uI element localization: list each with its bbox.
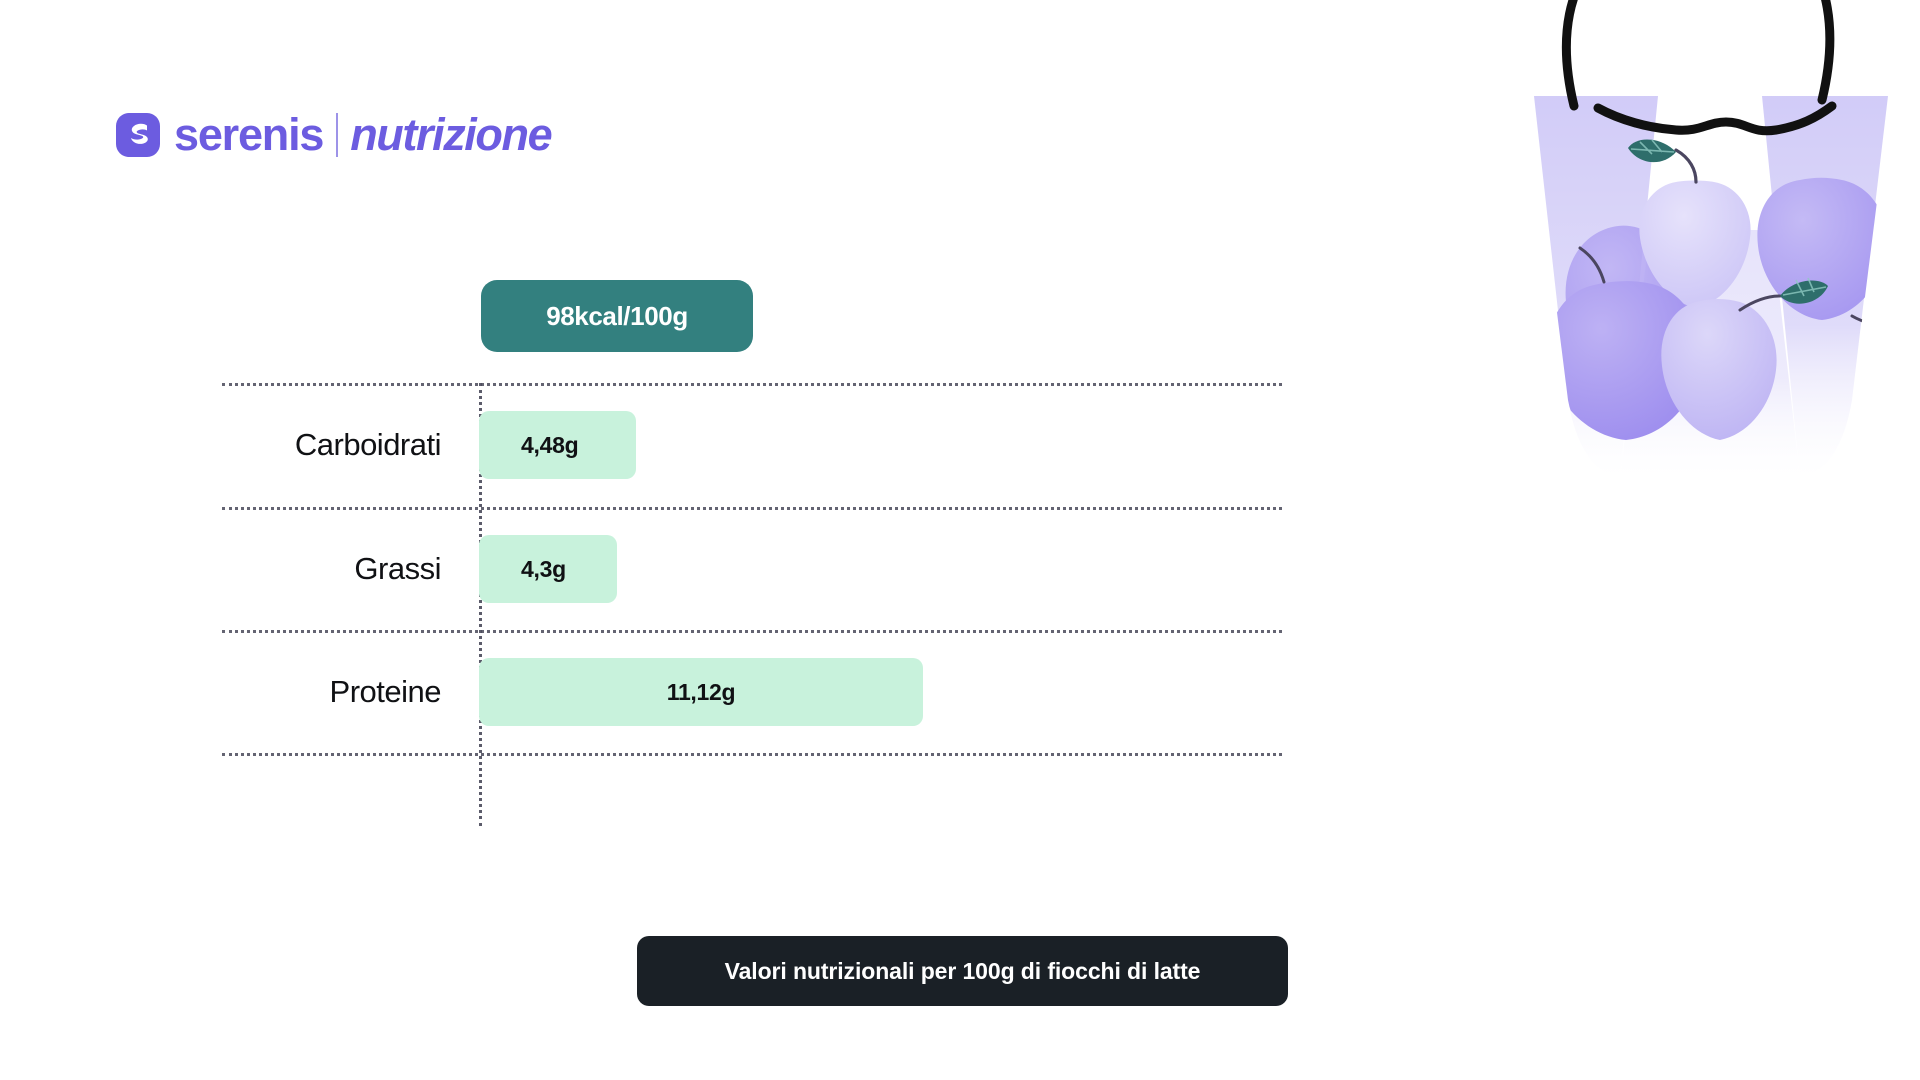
chart-caption: Valori nutrizionali per 100g di fiocchi … bbox=[637, 936, 1288, 1006]
chart-row-carboidrati: Carboidrati 4,48g bbox=[222, 383, 1282, 506]
bar-value-label: 4,3g bbox=[521, 556, 566, 583]
chart-row-proteine: Proteine 11,12g bbox=[222, 630, 1282, 753]
infographic-canvas: serenis nutrizione 98kcal/100g Carboidra… bbox=[0, 0, 1920, 1080]
bar-value-label: 4,48g bbox=[521, 432, 578, 459]
bar-value-label: 11,12g bbox=[667, 679, 736, 706]
gridline-bottom bbox=[222, 753, 1282, 756]
bar-carboidrati: 4,48g bbox=[479, 411, 636, 479]
row-label: Grassi bbox=[222, 507, 459, 630]
chart-row-grassi: Grassi 4,3g bbox=[222, 507, 1282, 630]
shopping-bag-with-fruit-illustration bbox=[1500, 0, 1920, 490]
bar-proteine: 11,12g bbox=[479, 658, 923, 726]
bar-grassi: 4,3g bbox=[479, 535, 617, 603]
energy-badge: 98kcal/100g bbox=[481, 280, 753, 352]
row-label: Proteine bbox=[222, 630, 459, 753]
row-label: Carboidrati bbox=[222, 383, 459, 506]
nutrition-bar-chart: 98kcal/100g Carboidrati 4,48g Grassi 4,3… bbox=[0, 0, 1300, 1080]
